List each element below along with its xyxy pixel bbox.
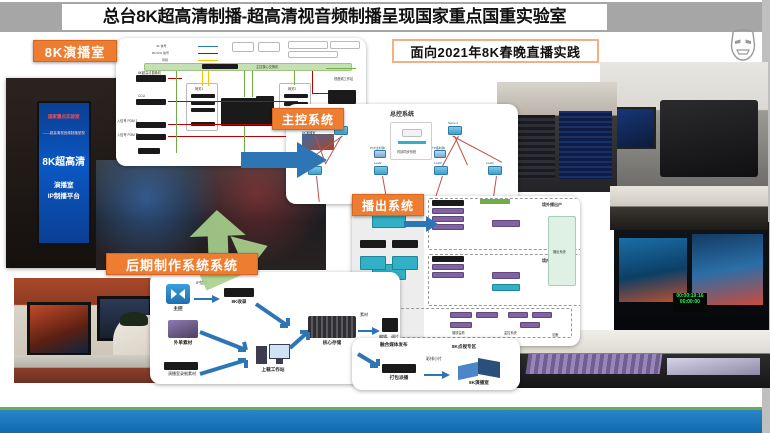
legend-item-2: 音频 [162,58,168,62]
playout-output-label: 播出系统 [553,249,566,254]
studio-node-ccu [136,99,166,105]
studio-clock: 00:00:19:1600:00:00 [673,293,707,311]
arrow-right-icon-3 [424,366,450,384]
workstation-icon [168,320,198,338]
node-ptp-master [374,150,386,158]
node-ptp-master-label: PTP主时钟 [370,146,385,150]
studio-link-5 [312,93,328,94]
studio-vlink-4 [244,71,245,97]
playout-proc-e [432,272,464,278]
legend-line-0 [198,46,218,47]
playout-group-label-2: 总备 [552,332,558,337]
studio-side-label-1: 入信号 PGM 备 [117,132,139,137]
clock-sync-bar [398,141,426,144]
playout-mon-1 [450,312,472,318]
server-icon [382,364,416,373]
page-title: 总台8K超高清制播-超高清视音频制播呈现国家重点国重实验室 [62,4,607,30]
callout-playout[interactable]: 播出系统 [352,194,424,216]
footer-blue-bar [0,410,762,433]
playout-group-label-1: 监控系统 [504,330,517,335]
playout-vid-switch [492,284,520,291]
edit-station-icon [382,318,398,332]
studio-node-monitor-wall [328,90,356,104]
studio-core-bus [144,63,352,71]
legend-line-2 [198,60,218,61]
studio-side-label-0: 入信号 PGM 1 [117,118,137,123]
studio-bus-device [202,64,238,69]
node-spine-2-label: Spine 2 [448,121,458,125]
photo-camera-room [600,62,768,187]
studio-node-cue [138,148,160,154]
studio-top-box-2 [258,42,280,52]
playout-mon-2 [476,312,498,318]
pp-label-rehearsal: 彩排小片 [426,356,442,362]
playout-output-panel: 播出系统 [548,216,576,286]
studio-node-ws-label: 视音频工作站 [334,76,353,81]
pp-label-package: 打包派播 [378,375,420,381]
playout-mon-5 [532,312,552,318]
arrow-diag-icon-5 [356,352,384,377]
playout-mon-4 [508,312,528,318]
studio-top-box-3 [288,41,328,49]
studio-top-box-1 [232,42,254,52]
callout-master-control[interactable]: 主控系统 [272,108,344,130]
pp-label-ingest: 8K收录 [222,299,256,305]
diagram-media-publish: 融合媒体发布 8K点视专区 打包派播 彩排小片 8K演播室 [352,338,520,390]
recorder-icon-2 [164,362,198,370]
node-leaf-2-label: Leaf2 [374,161,382,165]
callout-studio[interactable]: 8K演播室 [33,40,117,62]
legend-line-1 [198,53,218,54]
studio-node-mix2 [136,134,166,140]
recorder-icon-1 [224,288,254,297]
studio-vlink-3 [208,71,209,86]
node-leaf-3 [434,166,448,175]
playout-proc-d [432,264,464,270]
legend-item-0: 4K 信号 [156,44,167,48]
arrow-diag-icon-3 [198,356,256,383]
studio-node-mix1 [136,122,166,128]
playout-mon-6 [520,322,540,328]
studio-top-box-4 [330,41,360,49]
photo-audience-hall [610,186,768,230]
playout-channel-label-1: 境外播出户 [542,202,562,208]
switcher-icon [166,284,190,304]
node-ptp-backup-label: PTP备时钟 [430,146,445,150]
studio-link-2 [168,101,298,102]
studio-vlink-1 [176,71,177,153]
playout-left-dev-2 [392,240,418,248]
studio-gateway-2-label: 网关2 [288,86,296,91]
iron-man-helmet-icon [728,27,758,63]
playout-group-label-0: 播放监看 [452,330,465,335]
blue-flow-arrow-small [404,216,438,232]
studio-top-box-5 [288,51,338,58]
playout-vid-backup [492,272,520,279]
studio-node-ccu-label: CCU [138,94,145,98]
node-spine-2 [448,126,462,135]
studio-link-4 [168,136,298,137]
edit-monitor-left [27,302,91,355]
playout-left-dev-1 [360,240,386,248]
node-leaf-4 [488,166,502,175]
node-leaf-4-label: Leaf4 [486,161,494,165]
legend-item-1: 8K/12G 信号 [152,51,169,55]
pp-label-media-publish: 融合媒体发布 [380,342,408,348]
blue-flow-arrow [241,142,327,178]
studio-bus-label: 主控核心交换机 [256,64,278,69]
photo-video-wall: 00:00:19:1600:00:00 [614,222,769,337]
storage-array-icon [308,316,356,338]
studio-vlink-2 [202,71,203,86]
mc-link-9 [316,176,320,202]
studio-link-6 [326,68,356,69]
gw1-dev-1 [191,94,215,98]
node-ptp-backup [434,150,446,158]
presentation-slide: 总台8K超高清制播-超高清视音频制播呈现国家重点国重实验室 国家重点实验室 ——… [0,0,770,433]
studio-display-panel: 国家重点实验室 ——超高清视音频制播呈现 8K超高清 演播室IP制播平台 [37,101,91,245]
studio-gateway-1-label: 网关1 [195,86,203,91]
operator-cap [120,312,149,326]
mc-thumbnail-label: 8K演播室 [302,130,315,135]
display-line-mid: 演播室IP制播平台 [41,180,87,202]
display-line-sub: ——超高清视音频制播呈现 [41,131,87,136]
display-icon [458,360,500,380]
node-leaf-2 [374,166,388,175]
studio-vlink-8 [312,71,313,93]
clock-sync-unit [402,129,422,137]
pp-label-zone-8k: 8K点视专区 [452,344,476,350]
playout-dsp2-head [432,256,464,262]
arrow-diag-icon-4 [288,326,314,357]
studio-vlink-6 [294,71,295,85]
playout-left-dev-4 [392,256,418,270]
arrow-right-icon-1 [194,290,220,308]
desktop-icon [256,344,290,366]
gw1-dev-3 [191,108,215,112]
gw2-dev-1 [284,94,308,98]
pp-label-master: 主控 [164,306,192,312]
pp-label-upload-ws: 上载工作站 [250,367,296,373]
studio-vlink-5 [252,71,253,97]
display-line-red: 国家重点实验室 [41,114,87,121]
callout-post-production[interactable]: 后期制作系统系统 [106,253,258,275]
clock-sync-box: 时钟同步系统 [390,122,432,160]
pp-label-material: 素材 [360,312,368,318]
playout-vid-main [492,220,520,227]
playout-left-dev-3 [360,256,386,270]
banner-spring-festival: 面向2021年8K春晚直播实践 [392,39,599,63]
studio-link-1 [168,78,182,79]
node-leaf-3-label: Leaf3 [434,161,442,165]
pp-label-studio-8k: 8K演播室 [454,380,504,386]
display-line-big: 8K超高清 [41,153,87,168]
playout-mon-3 [450,322,472,328]
clock-sync-label: 时钟同步系统 [397,149,416,154]
studio-node-camera [136,75,166,82]
